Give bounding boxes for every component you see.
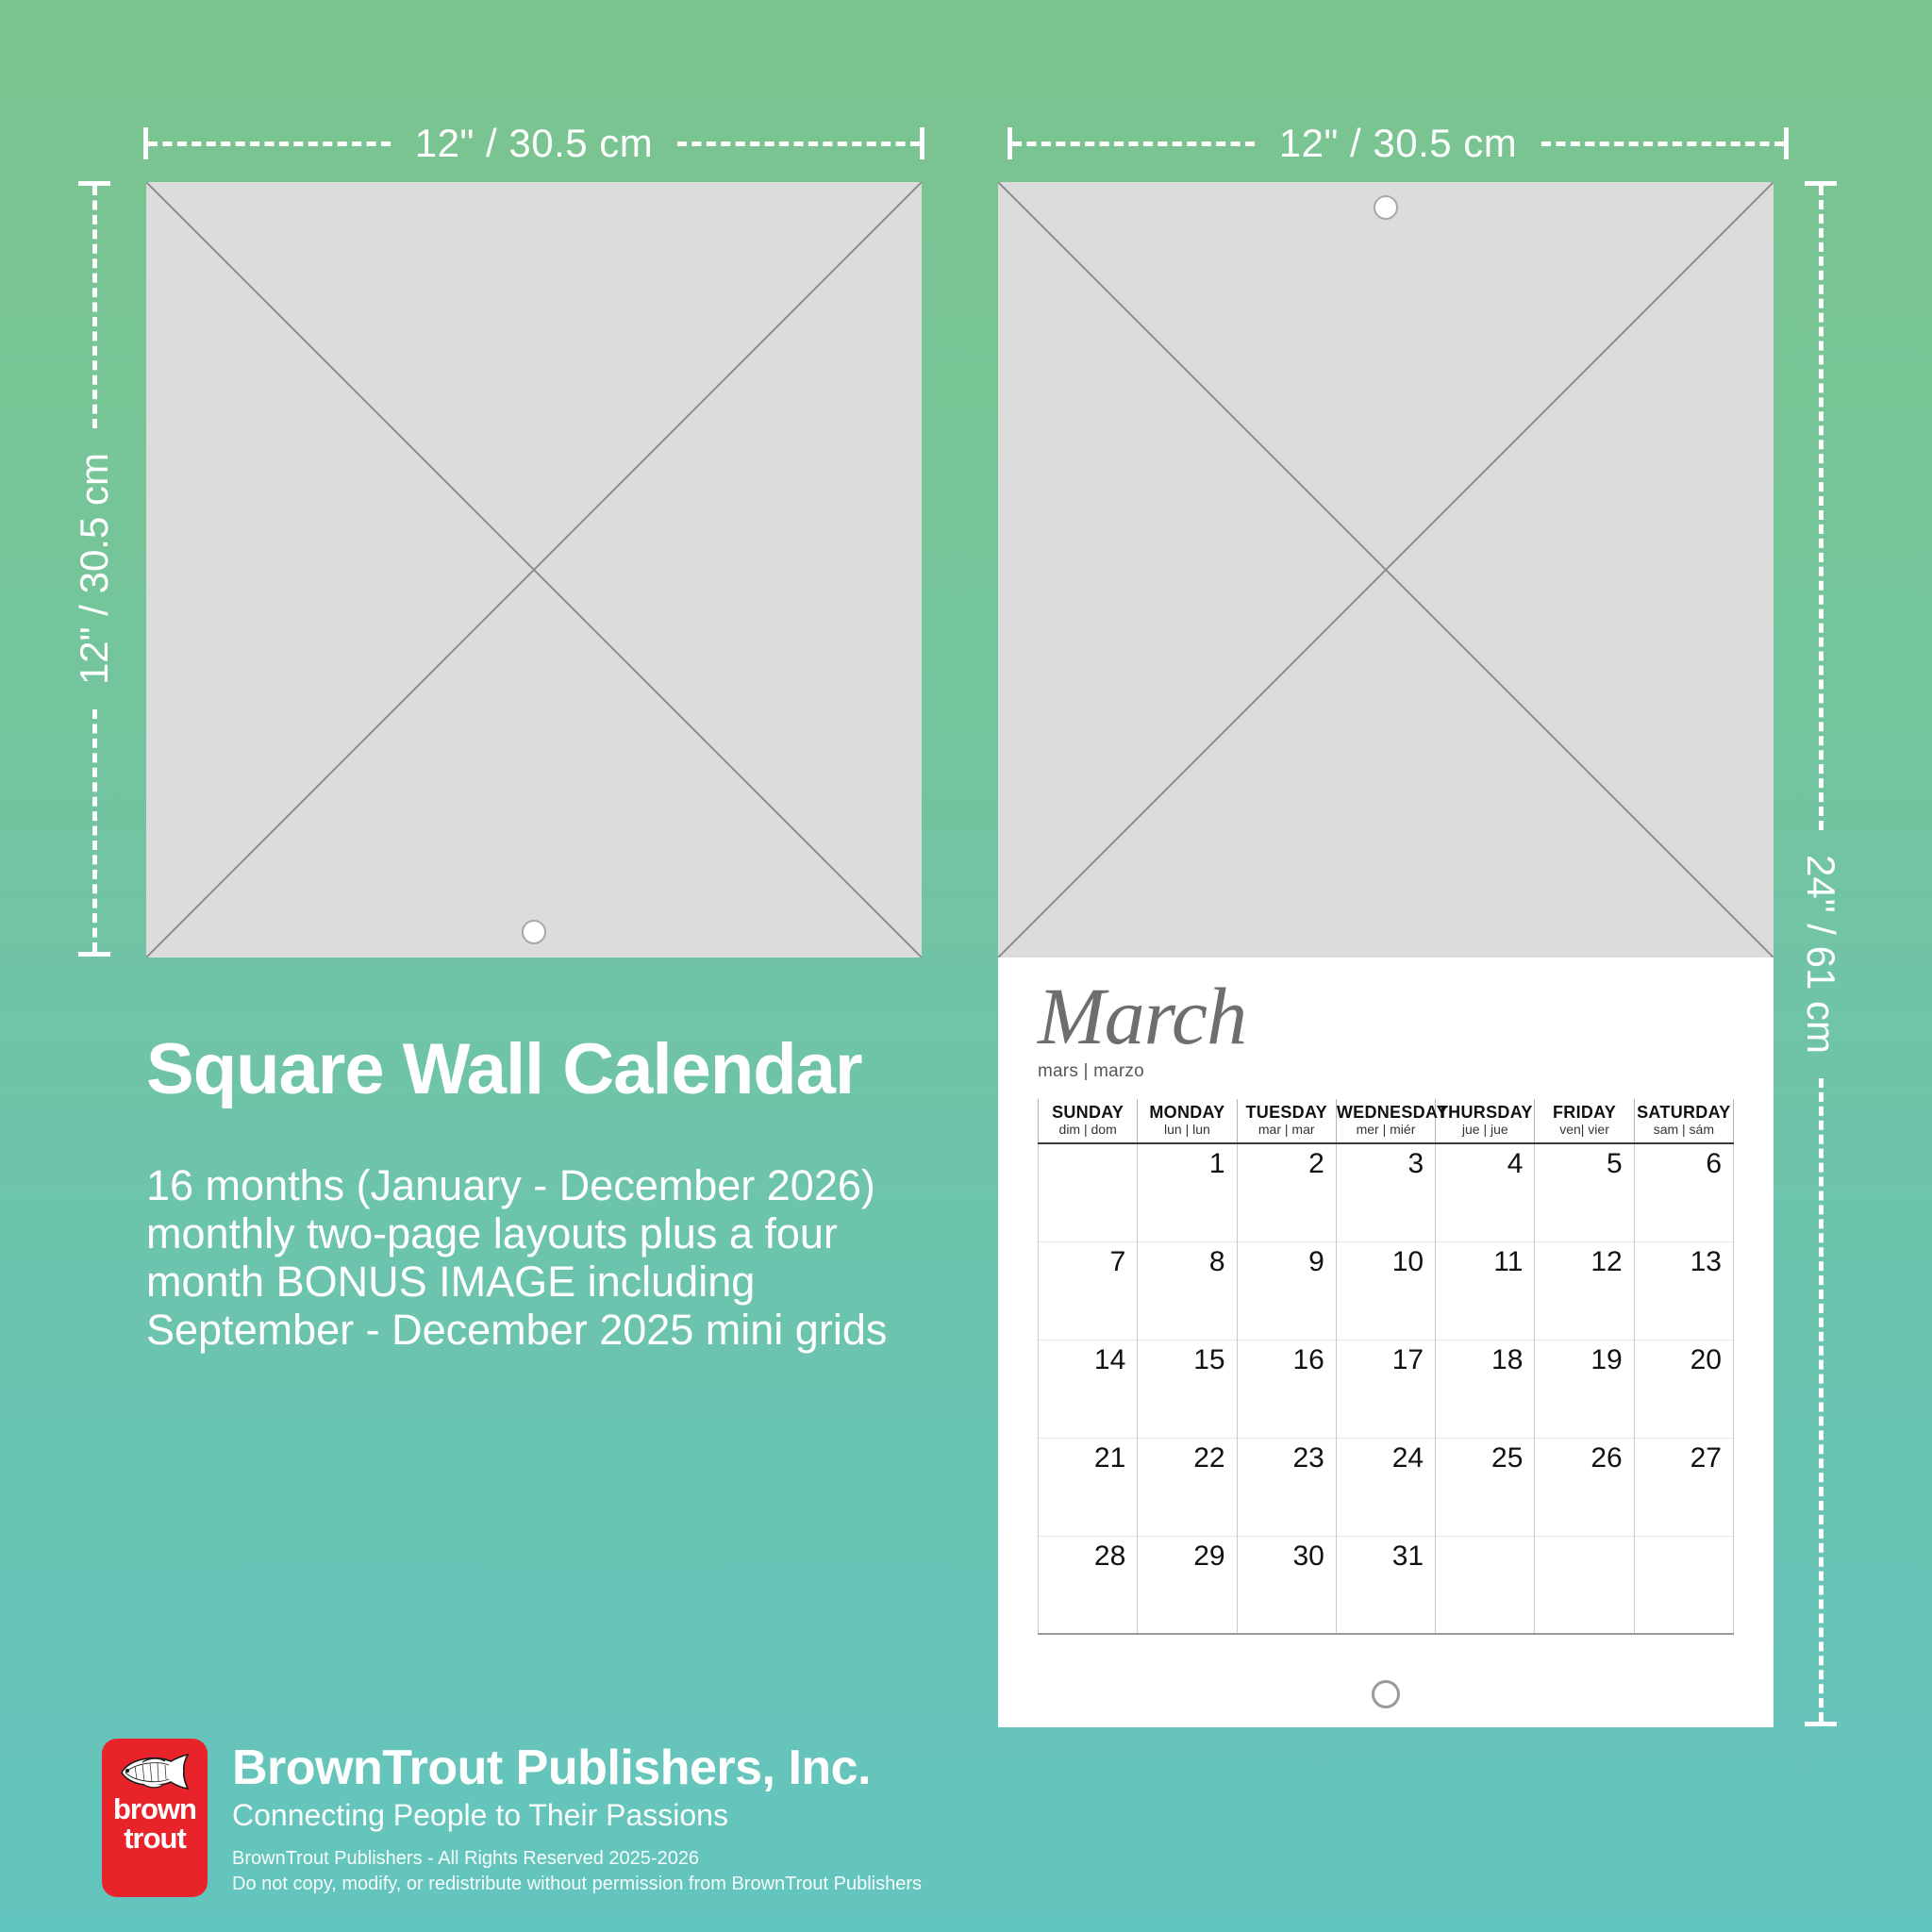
- calendar-day-cell[interactable]: 26: [1535, 1438, 1634, 1536]
- weekday-name: SUNDAY: [1039, 1103, 1137, 1123]
- calendar-month-translations: mars | marzo: [1038, 1061, 1734, 1082]
- weekday-translation: sam | sám: [1635, 1122, 1733, 1138]
- calendar-page: March mars | marzo SUNDAY dim | dom MOND…: [998, 958, 1774, 1727]
- calendar-day-cell[interactable]: 22: [1138, 1438, 1237, 1536]
- day-number: 26: [1591, 1442, 1622, 1474]
- calendar-day-cell[interactable]: 20: [1634, 1340, 1733, 1438]
- legal-line: BrownTrout Publishers - All Rights Reser…: [232, 1846, 922, 1872]
- calendar-day-cell[interactable]: 18: [1436, 1340, 1535, 1438]
- weekday-name: FRIDAY: [1535, 1103, 1633, 1123]
- weekday-header-saturday: SATURDAY sam | sám: [1634, 1099, 1733, 1143]
- dimension-cap-bottom: [1805, 1722, 1837, 1726]
- description-line: month BONUS IMAGE including: [146, 1258, 976, 1307]
- day-number: 31: [1392, 1541, 1424, 1572]
- weekday-translation: lun | lun: [1138, 1122, 1236, 1138]
- calendar-day-cell[interactable]: 5: [1535, 1143, 1634, 1241]
- day-number: 7: [1110, 1246, 1126, 1277]
- day-number: 22: [1193, 1442, 1224, 1474]
- calendar-day-cell[interactable]: 30: [1237, 1536, 1336, 1634]
- weekday-header-wednesday: WEDNESDAY mer | miér: [1336, 1099, 1435, 1143]
- calendar-day-cell[interactable]: [1634, 1536, 1733, 1634]
- calendar-day-cell[interactable]: [1039, 1143, 1138, 1241]
- weekday-header-monday: MONDAY lun | lun: [1138, 1099, 1237, 1143]
- day-number: 21: [1094, 1442, 1125, 1474]
- dimension-dash-right: [1541, 142, 1784, 146]
- calendar-day-cell[interactable]: 2: [1237, 1143, 1336, 1241]
- weekday-name: THURSDAY: [1436, 1103, 1534, 1123]
- calendar-day-cell[interactable]: 3: [1336, 1143, 1435, 1241]
- day-number: 8: [1209, 1246, 1225, 1277]
- product-description: 16 months (January - December 2026) mont…: [146, 1162, 976, 1354]
- calendar-day-cell[interactable]: 11: [1436, 1241, 1535, 1340]
- calendar-grid: SUNDAY dim | dom MONDAY lun | lun TUESDA…: [1038, 1099, 1734, 1635]
- day-number: 11: [1493, 1246, 1523, 1277]
- day-number: 13: [1690, 1246, 1722, 1277]
- calendar-day-cell[interactable]: 10: [1336, 1241, 1435, 1340]
- day-number: 30: [1292, 1541, 1324, 1572]
- day-number: 16: [1292, 1344, 1324, 1375]
- company-tagline: Connecting People to Their Passions: [232, 1798, 922, 1833]
- dimension-dash-left: [148, 142, 391, 146]
- logo-word-brown: brown: [113, 1795, 196, 1823]
- placeholder-diagonals: [998, 182, 1774, 958]
- calendar-day-cell[interactable]: 17: [1336, 1340, 1435, 1438]
- calendar-day-cell[interactable]: 28: [1039, 1536, 1138, 1634]
- calendar-day-cell[interactable]: 9: [1237, 1241, 1336, 1340]
- calendar-month-title: March: [1038, 978, 1734, 1056]
- dimension-dash-right: [677, 142, 920, 146]
- description-line: monthly two-page layouts plus a four: [146, 1210, 976, 1258]
- day-number: 28: [1094, 1541, 1125, 1572]
- day-number: 29: [1193, 1541, 1224, 1572]
- day-number: 9: [1308, 1246, 1324, 1277]
- dimension-left-height-label: 12" / 30.5 cm: [72, 428, 117, 709]
- day-number: 3: [1407, 1148, 1424, 1179]
- calendar-day-cell[interactable]: 29: [1138, 1536, 1237, 1634]
- day-number: 27: [1690, 1442, 1722, 1474]
- punch-hole-icon: [1374, 195, 1398, 220]
- description-line: September - December 2025 mini grids: [146, 1307, 976, 1355]
- calendar-day-cell[interactable]: 12: [1535, 1241, 1634, 1340]
- calendar-day-cell[interactable]: 13: [1634, 1241, 1733, 1340]
- calendar-day-cell[interactable]: 7: [1039, 1241, 1138, 1340]
- day-number: 6: [1706, 1148, 1722, 1179]
- calendar-day-cell[interactable]: 21: [1039, 1438, 1138, 1536]
- browntrout-logo[interactable]: brown trout: [102, 1739, 208, 1897]
- company-name: BrownTrout Publishers, Inc.: [232, 1742, 922, 1794]
- dimension-right-height-label: 24" / 61 cm: [1798, 830, 1843, 1078]
- weekday-header-tuesday: TUESDAY mar | mar: [1237, 1099, 1336, 1143]
- footer: brown trout BrownTrout Publishers, Inc. …: [102, 1739, 922, 1897]
- calendar-day-cell[interactable]: 8: [1138, 1241, 1237, 1340]
- day-number: 1: [1209, 1148, 1225, 1179]
- calendar-week-row: 21 22 23 24 25 26 27: [1039, 1438, 1734, 1536]
- day-number: 17: [1392, 1344, 1424, 1375]
- calendar-day-cell[interactable]: [1436, 1536, 1535, 1634]
- calendar-day-cell[interactable]: 23: [1237, 1438, 1336, 1536]
- weekday-name: WEDNESDAY: [1337, 1103, 1435, 1123]
- day-number: 18: [1491, 1344, 1523, 1375]
- day-number: 14: [1094, 1344, 1125, 1375]
- weekday-header-sunday: SUNDAY dim | dom: [1039, 1099, 1138, 1143]
- calendar-day-cell[interactable]: 31: [1336, 1536, 1435, 1634]
- calendar-day-cell[interactable]: 19: [1535, 1340, 1634, 1438]
- weekday-translation: jue | jue: [1436, 1122, 1534, 1138]
- weekday-translation: mar | mar: [1238, 1122, 1336, 1138]
- calendar-content: March mars | marzo SUNDAY dim | dom MOND…: [1038, 978, 1734, 1635]
- weekday-header-friday: FRIDAY ven| vier: [1535, 1099, 1634, 1143]
- logo-word-trout: trout: [124, 1824, 186, 1852]
- calendar-day-cell[interactable]: 15: [1138, 1340, 1237, 1438]
- day-number: 23: [1292, 1442, 1324, 1474]
- dimension-dash-top: [92, 186, 97, 428]
- weekday-header-thursday: THURSDAY jue | jue: [1436, 1099, 1535, 1143]
- weekday-name: MONDAY: [1138, 1103, 1236, 1123]
- punch-hole-icon: [522, 920, 546, 944]
- day-number: 12: [1591, 1246, 1622, 1277]
- calendar-week-row: 14 15 16 17 18 19 20: [1039, 1340, 1734, 1438]
- calendar-day-cell[interactable]: 24: [1336, 1438, 1435, 1536]
- description-line: 16 months (January - December 2026): [146, 1162, 976, 1210]
- day-number: 4: [1507, 1148, 1524, 1179]
- weekday-translation: ven| vier: [1535, 1122, 1633, 1138]
- day-number: 20: [1690, 1344, 1722, 1375]
- legal-notice: BrownTrout Publishers - All Rights Reser…: [232, 1846, 922, 1897]
- dimension-dash-left: [1012, 142, 1255, 146]
- calendar-week-row: 28 29 30 31: [1039, 1536, 1734, 1634]
- dimension-right-width-label: 12" / 30.5 cm: [1255, 121, 1542, 166]
- footer-text-block: BrownTrout Publishers, Inc. Connecting P…: [232, 1739, 922, 1897]
- dimension-cap-end: [920, 127, 924, 159]
- weekday-translation: dim | dom: [1039, 1122, 1137, 1138]
- calendar-week-row: 7 8 9 10 11 12 13: [1039, 1241, 1734, 1340]
- dimension-dash-bottom: [92, 709, 97, 952]
- calendar-day-cell[interactable]: 25: [1436, 1438, 1535, 1536]
- right-image-placeholder: [998, 182, 1774, 958]
- product-preview-canvas: 12" / 30.5 cm 12" / 30.5 cm 12" / 30.5 c…: [0, 0, 1932, 1932]
- day-number: 15: [1193, 1344, 1224, 1375]
- calendar-weekday-header-row: SUNDAY dim | dom MONDAY lun | lun TUESDA…: [1039, 1099, 1734, 1143]
- dimension-dash-bottom: [1819, 1078, 1824, 1723]
- left-image-placeholder: [146, 182, 922, 958]
- day-number: 24: [1392, 1442, 1424, 1474]
- dimension-cap-end: [1784, 127, 1789, 159]
- day-number: 5: [1607, 1148, 1623, 1179]
- placeholder-diagonals: [146, 182, 922, 958]
- page-title: Square Wall Calendar: [146, 1028, 862, 1110]
- day-number: 19: [1591, 1344, 1622, 1375]
- punch-hole-icon: [1372, 1680, 1400, 1708]
- calendar-day-cell[interactable]: 27: [1634, 1438, 1733, 1536]
- weekday-name: TUESDAY: [1238, 1103, 1336, 1123]
- calendar-day-cell[interactable]: 1: [1138, 1143, 1237, 1241]
- dimension-left-width-label: 12" / 30.5 cm: [391, 121, 678, 166]
- day-number: 25: [1491, 1442, 1523, 1474]
- weekday-translation: mer | miér: [1337, 1122, 1435, 1138]
- day-number: 10: [1392, 1246, 1424, 1277]
- calendar-week-row: 1 2 3 4 5 6: [1039, 1143, 1734, 1241]
- trout-fish-icon: [114, 1750, 195, 1793]
- calendar-day-cell[interactable]: [1535, 1536, 1634, 1634]
- calendar-day-cell[interactable]: 14: [1039, 1340, 1138, 1438]
- day-number: 2: [1308, 1148, 1324, 1179]
- calendar-day-cell[interactable]: 16: [1237, 1340, 1336, 1438]
- dimension-cap-bottom: [78, 952, 110, 957]
- calendar-day-cell[interactable]: 4: [1436, 1143, 1535, 1241]
- legal-line: Do not copy, modify, or redistribute wit…: [232, 1872, 922, 1897]
- dimension-dash-top: [1819, 186, 1824, 830]
- weekday-name: SATURDAY: [1635, 1103, 1733, 1123]
- calendar-day-cell[interactable]: 6: [1634, 1143, 1733, 1241]
